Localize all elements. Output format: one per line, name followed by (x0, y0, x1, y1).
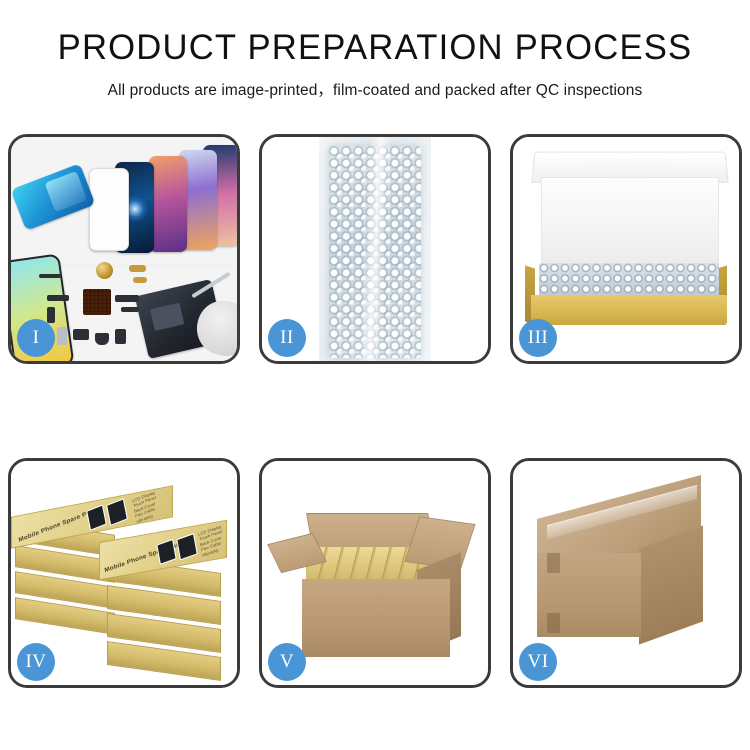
step-badge-3: III (519, 319, 557, 357)
carton-handle-slot (547, 613, 560, 633)
connector-icon (115, 295, 139, 302)
bubble-wrapped-contents-icon (539, 263, 719, 299)
process-step-panel-1[interactable]: I (8, 134, 240, 364)
phone-glass-panel-icon (89, 168, 129, 251)
header: PRODUCT PREPARATION PROCESS All products… (0, 0, 750, 100)
carton-front-panel (302, 579, 450, 657)
phone-screen-icon (149, 156, 187, 252)
process-step-panel-5[interactable]: V (259, 458, 491, 688)
connector-icon (47, 295, 69, 301)
chip-array-icon (83, 289, 111, 315)
step-badge-2: II (268, 319, 306, 357)
connector-icon (47, 307, 55, 323)
process-step-panel-3[interactable]: III (510, 134, 742, 364)
page-title: PRODUCT PREPARATION PROCESS (4, 30, 747, 67)
step-badge-4: IV (17, 643, 55, 681)
step-badge-5: V (268, 643, 306, 681)
box-front-panel (531, 295, 727, 325)
product-preparation-infographic: PRODUCT PREPARATION PROCESS All products… (0, 0, 750, 750)
process-step-panel-4[interactable]: Mobile Phone Spare Parts LCD Display Tou… (8, 458, 240, 688)
foam-insert-icon (541, 177, 719, 267)
step-badge-6: VI (519, 643, 557, 681)
flex-cable-icon (133, 277, 147, 283)
battery-icon (57, 327, 67, 345)
page-subtitle: All products are image-printed，film-coat… (0, 78, 750, 100)
speaker-module-icon (96, 262, 113, 279)
process-step-panel-2[interactable]: II (259, 134, 491, 364)
speaker-icon (95, 333, 109, 345)
carton-handle-slot (547, 553, 560, 573)
camera-module-icon (73, 329, 89, 340)
process-step-grid: I II III (8, 134, 742, 688)
component-part-icon (115, 329, 126, 344)
component-part-icon (39, 274, 61, 278)
connector-icon (121, 307, 139, 312)
flex-cable-icon (129, 265, 146, 272)
process-step-panel-6[interactable]: VI (510, 458, 742, 688)
step-badge-1: I (17, 319, 55, 357)
